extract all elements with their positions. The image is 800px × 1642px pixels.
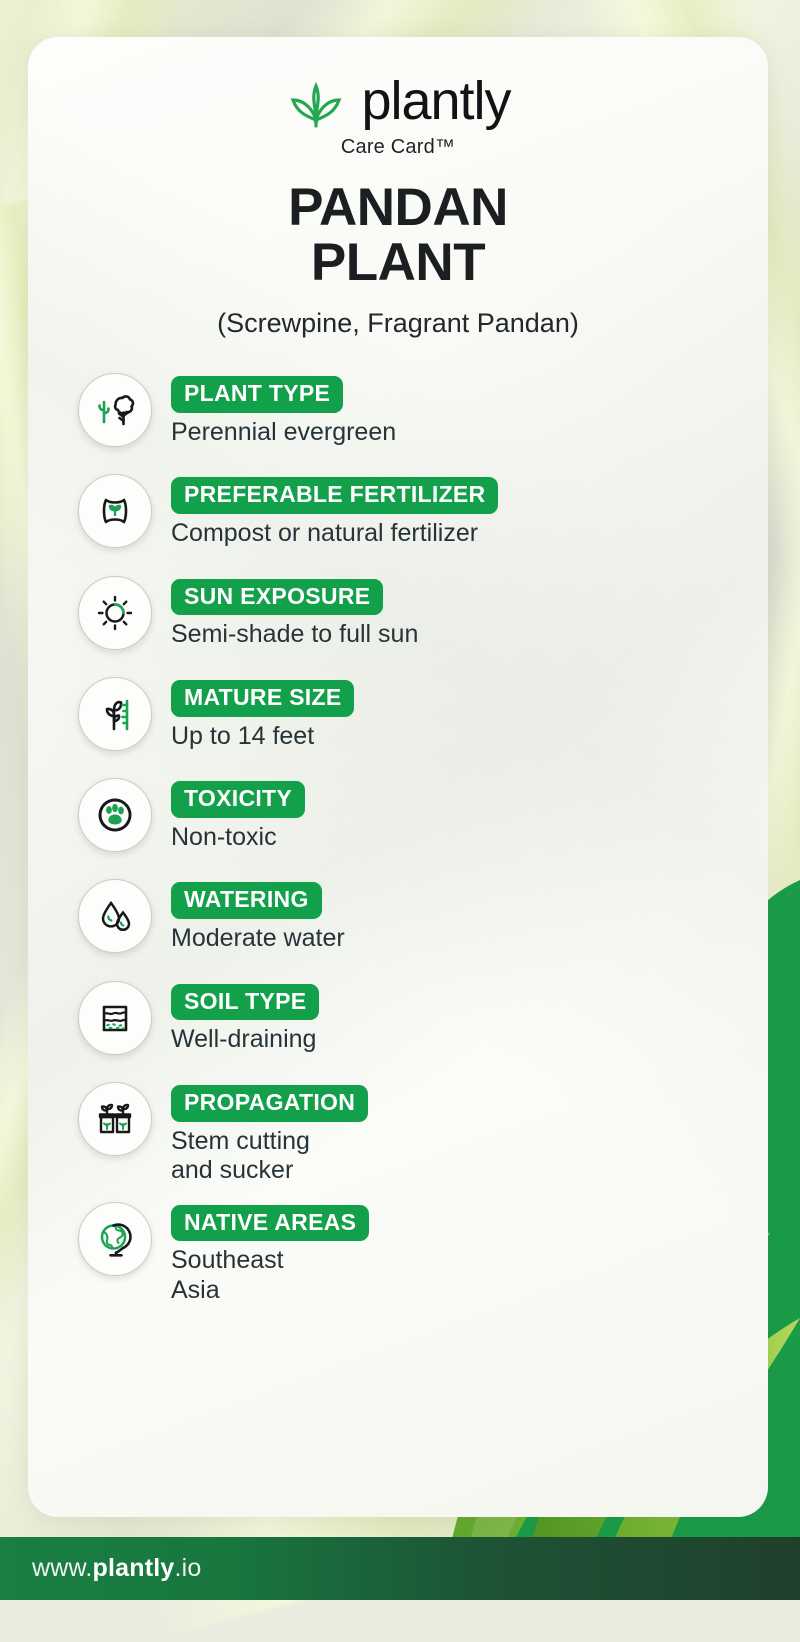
attribute-value-line: Compost or natural fertilizer	[171, 519, 498, 549]
brand-logo[interactable]: plantly	[28, 37, 768, 130]
attribute-value-line: Well-draining	[171, 1025, 319, 1055]
care-attribute-row: PROPAGATIONStem cuttingand sucker	[78, 1082, 768, 1186]
attribute-label-pill: WATERING	[171, 882, 322, 919]
attribute-text: NATIVE AREASSoutheastAsia	[171, 1202, 369, 1306]
care-attribute-row: SUN EXPOSURESemi-shade to full sun	[78, 576, 768, 650]
attribute-text: PLANT TYPEPerennial evergreen	[171, 373, 396, 447]
attribute-value: Moderate water	[171, 924, 345, 954]
attribute-value-line: and sucker	[171, 1156, 368, 1186]
attribute-label-pill: NATIVE AREAS	[171, 1205, 369, 1242]
care-attribute-row: MATURE SIZEUp to 14 feet	[78, 677, 768, 751]
attribute-value-line: Moderate water	[171, 924, 345, 954]
attribute-label-pill: PREFERABLE FERTILIZER	[171, 477, 498, 514]
attribute-value-line: Semi-shade to full sun	[171, 620, 418, 650]
attribute-icon-badge	[78, 1202, 152, 1276]
attribute-value-line: Non-toxic	[171, 823, 305, 853]
attribute-text: SOIL TYPEWell-draining	[171, 981, 319, 1055]
attribute-text: MATURE SIZEUp to 14 feet	[171, 677, 354, 751]
attribute-text: SUN EXPOSURESemi-shade to full sun	[171, 576, 418, 650]
paw-print-icon	[93, 793, 137, 837]
seedling-jars-icon	[93, 1097, 137, 1141]
attribute-value: Semi-shade to full sun	[171, 620, 418, 650]
attribute-value-line: Asia	[171, 1276, 369, 1306]
website-url[interactable]: www.plantly.io	[32, 1554, 202, 1583]
attribute-value: Compost or natural fertilizer	[171, 519, 498, 549]
globe-icon	[93, 1217, 137, 1261]
care-attribute-list: PLANT TYPEPerennial evergreen PREFERABLE…	[28, 373, 768, 1305]
care-attribute-row: SOIL TYPEWell-draining	[78, 981, 768, 1055]
attribute-label-pill: MATURE SIZE	[171, 680, 354, 717]
fertilizer-bag-icon	[93, 489, 137, 533]
attribute-value: Well-draining	[171, 1025, 319, 1055]
attribute-icon-badge	[78, 778, 152, 852]
soil-layers-icon	[93, 996, 137, 1040]
care-attribute-row: PREFERABLE FERTILIZERCompost or natural …	[78, 474, 768, 548]
brand-tagline: Care Card™	[28, 136, 768, 159]
attribute-value: Perennial evergreen	[171, 418, 396, 448]
attribute-icon-badge	[78, 981, 152, 1055]
brand-name: plantly	[361, 74, 510, 128]
footer-bar: www.plantly.io	[0, 1537, 800, 1600]
attribute-value: SoutheastAsia	[171, 1246, 369, 1305]
attribute-icon-badge	[78, 1082, 152, 1156]
attribute-icon-badge	[78, 879, 152, 953]
attribute-icon-badge	[78, 677, 152, 751]
attribute-value-line: Southeast	[171, 1246, 369, 1276]
attribute-label-pill: SOIL TYPE	[171, 984, 319, 1021]
attribute-label-pill: TOXICITY	[171, 781, 305, 818]
care-card: plantly Care Card™ PANDAN PLANT (Screwpi…	[28, 37, 768, 1517]
title-line-1: PANDAN	[28, 181, 768, 236]
care-attribute-row: NATIVE AREASSoutheastAsia	[78, 1202, 768, 1306]
water-drops-icon	[93, 894, 137, 938]
attribute-text: WATERINGModerate water	[171, 879, 345, 953]
attribute-value-line: Stem cutting	[171, 1127, 368, 1157]
attribute-value: Non-toxic	[171, 823, 305, 853]
title-line-2: PLANT	[28, 236, 768, 291]
care-attribute-row: WATERINGModerate water	[78, 879, 768, 953]
attribute-label-pill: PLANT TYPE	[171, 376, 343, 413]
url-brand: plantly	[93, 1554, 175, 1582]
sun-icon	[93, 591, 137, 635]
attribute-text: PROPAGATIONStem cuttingand sucker	[171, 1082, 368, 1186]
page-subtitle: (Screwpine, Fragrant Pandan)	[28, 308, 768, 339]
attribute-value-line: Up to 14 feet	[171, 722, 354, 752]
attribute-icon-badge	[78, 474, 152, 548]
cactus-tree-icon	[93, 388, 137, 432]
care-attribute-row: PLANT TYPEPerennial evergreen	[78, 373, 768, 447]
attribute-value: Up to 14 feet	[171, 722, 354, 752]
attribute-icon-badge	[78, 373, 152, 447]
attribute-value: Stem cuttingand sucker	[171, 1127, 368, 1186]
three-leaf-icon	[285, 72, 347, 130]
attribute-text: TOXICITYNon-toxic	[171, 778, 305, 852]
plant-ruler-icon	[93, 692, 137, 736]
url-suffix: .io	[175, 1554, 202, 1582]
attribute-text: PREFERABLE FERTILIZERCompost or natural …	[171, 474, 498, 548]
care-attribute-row: TOXICITYNon-toxic	[78, 778, 768, 852]
attribute-value-line: Perennial evergreen	[171, 418, 396, 448]
page-title: PANDAN PLANT	[28, 181, 768, 290]
url-prefix: www.	[32, 1554, 93, 1582]
attribute-label-pill: PROPAGATION	[171, 1085, 368, 1122]
attribute-icon-badge	[78, 576, 152, 650]
attribute-label-pill: SUN EXPOSURE	[171, 579, 383, 616]
